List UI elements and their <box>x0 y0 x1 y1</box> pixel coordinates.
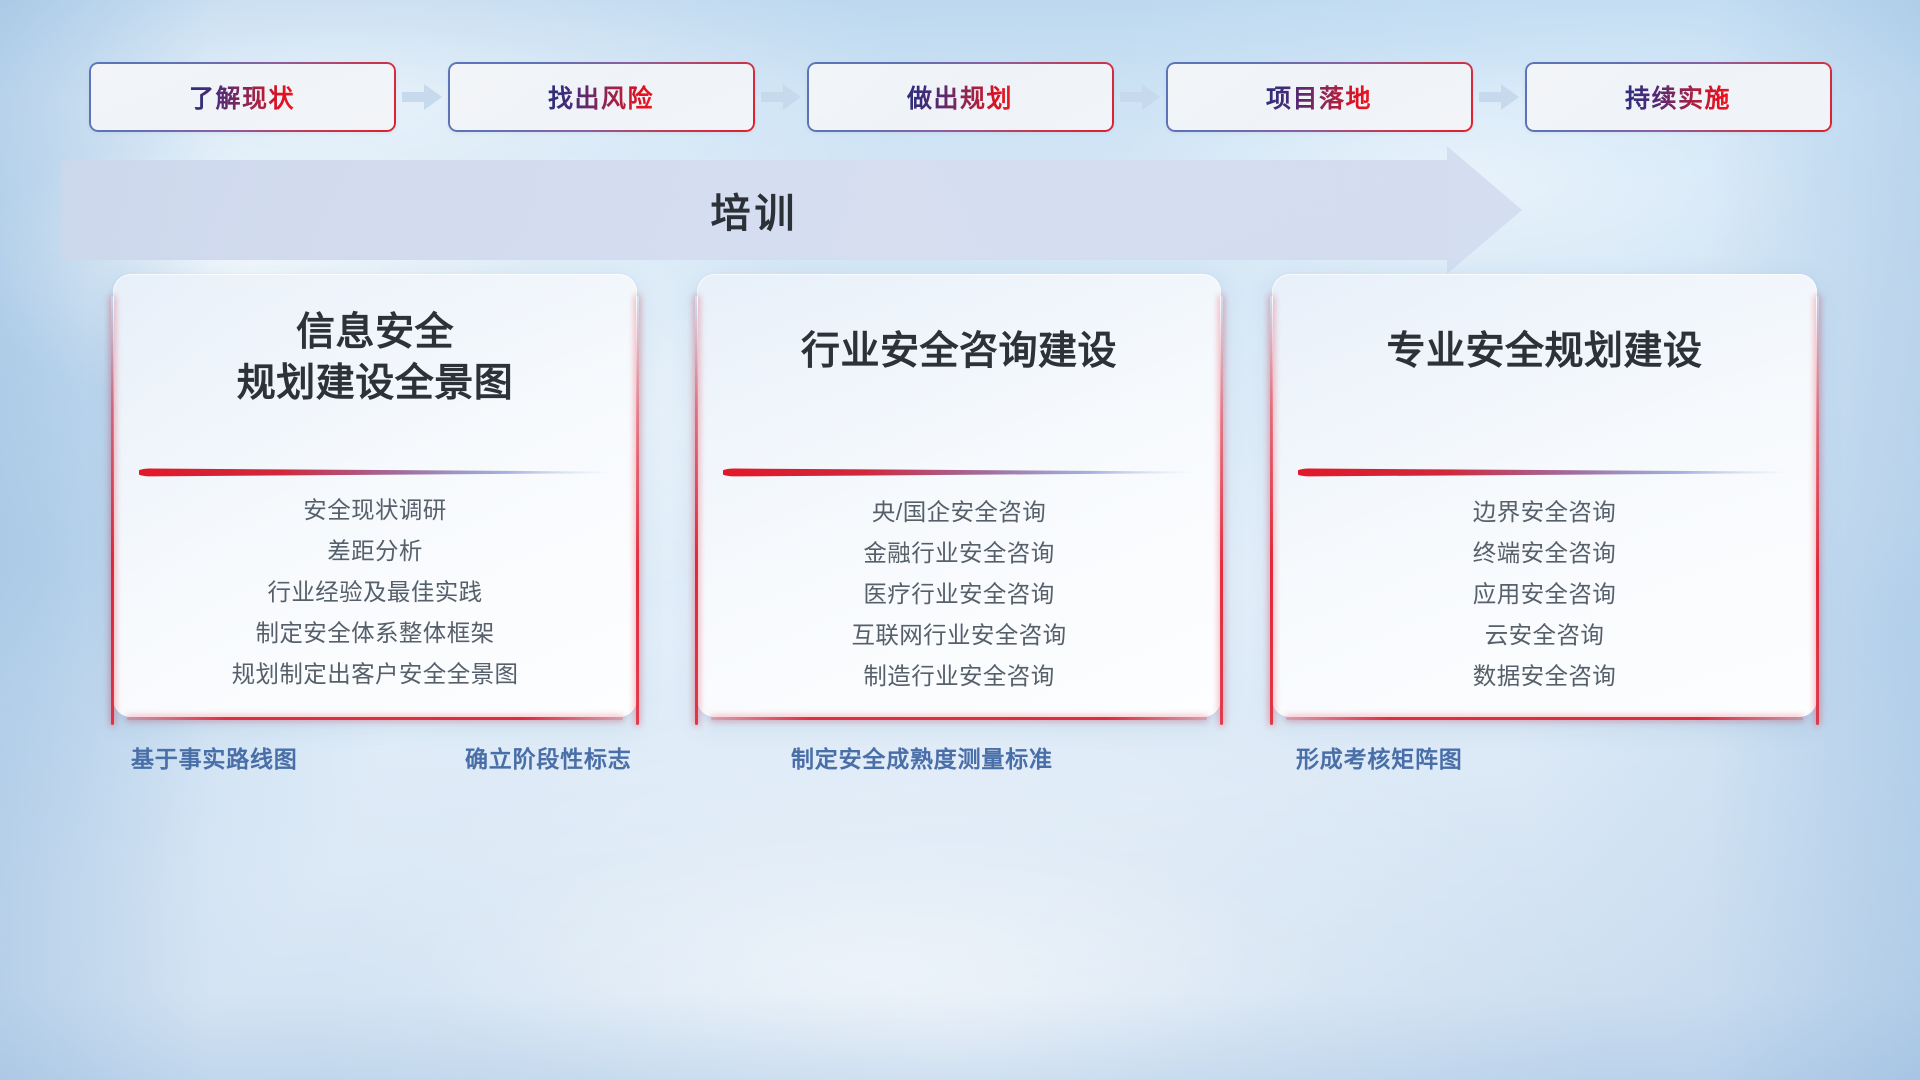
card-title: 专业安全规划建设 <box>1272 327 1817 378</box>
step-button-4[interactable]: 项目落地 <box>1166 62 1473 132</box>
list-item: 互联网行业安全咨询 <box>851 615 1066 656</box>
list-item: 云安全咨询 <box>1485 615 1605 656</box>
card-divider <box>723 467 1195 479</box>
card-item-list: 央/国企安全咨询 金融行业安全咨询 医疗行业安全咨询 互联网行业安全咨询 制造行… <box>697 492 1221 697</box>
arrow-right-icon <box>1473 62 1525 132</box>
footer-label-4: 形成考核矩阵图 <box>1296 740 1463 774</box>
list-item: 终端安全咨询 <box>1473 533 1616 574</box>
card-industry-security-consulting[interactable]: 行业安全咨询建设 央/国企安全咨询 金融行业安全咨询 医疗行业安全咨询 <box>697 274 1221 717</box>
footer-label-3: 制定安全成熟度测量标准 <box>791 740 1053 774</box>
list-item: 金融行业安全咨询 <box>863 533 1054 574</box>
arrow-right-icon <box>396 62 448 132</box>
step-button-1[interactable]: 了解现状 <box>89 62 396 132</box>
training-banner: 培训 <box>62 160 1522 260</box>
list-item: 行业经验及最佳实践 <box>267 572 482 613</box>
list-item: 边界安全咨询 <box>1473 492 1616 533</box>
card-edge-glow-bottom <box>1286 717 1803 720</box>
step-button-5[interactable]: 持续实施 <box>1525 62 1832 132</box>
footer-labels-row: 基于事实路线图 确立阶段性标志 制定安全成熟度测量标准 形成考核矩阵图 <box>0 740 1920 800</box>
card-divider <box>1298 467 1791 479</box>
list-item: 央/国企安全咨询 <box>872 492 1046 533</box>
cards-row: 信息安全 规划建设全景图 安全现状调研 差距分析 行业经验及最佳实践 <box>0 274 1920 724</box>
card-title: 行业安全咨询建设 <box>697 327 1221 378</box>
arrow-right-icon <box>1114 62 1166 132</box>
step-label: 找出风险 <box>548 79 654 115</box>
list-item: 制造行业安全咨询 <box>863 656 1054 697</box>
list-item: 规划制定出客户安全全景图 <box>232 654 519 695</box>
list-item: 差距分析 <box>327 531 423 572</box>
banner-label: 培训 <box>62 160 1447 260</box>
card-professional-security-planning[interactable]: 专业安全规划建设 边界安全咨询 终端安全咨询 应用安全咨询 云安全 <box>1272 274 1817 717</box>
step-button-2[interactable]: 找出风险 <box>448 62 755 132</box>
card-edge-glow-bottom <box>711 717 1207 720</box>
step-label: 项目落地 <box>1266 79 1372 115</box>
list-item: 安全现状调研 <box>303 490 446 531</box>
banner-arrow-head <box>1447 146 1522 274</box>
footer-label-1: 基于事实路线图 <box>131 740 298 774</box>
process-steps-row: 了解现状 找出风险 做出规划 项目落地 持续实施 <box>0 62 1920 132</box>
step-label: 做出规划 <box>907 79 1013 115</box>
card-item-list: 边界安全咨询 终端安全咨询 应用安全咨询 云安全咨询 数据安全咨询 <box>1272 492 1817 697</box>
list-item: 应用安全咨询 <box>1473 574 1616 615</box>
card-item-list: 安全现状调研 差距分析 行业经验及最佳实践 制定安全体系整体框架 规划制定出客户… <box>113 490 637 695</box>
card-divider <box>139 467 611 479</box>
step-button-3[interactable]: 做出规划 <box>807 62 1114 132</box>
arrow-right-icon <box>755 62 807 132</box>
card-title: 信息安全 规划建设全景图 <box>113 308 637 409</box>
list-item: 数据安全咨询 <box>1473 656 1616 697</box>
list-item: 医疗行业安全咨询 <box>863 574 1054 615</box>
footer-label-2: 确立阶段性标志 <box>465 740 632 774</box>
card-edge-glow-bottom <box>127 717 623 720</box>
list-item: 制定安全体系整体框架 <box>256 613 495 654</box>
step-label: 持续实施 <box>1625 79 1731 115</box>
step-label: 了解现状 <box>189 79 295 115</box>
card-information-security-blueprint[interactable]: 信息安全 规划建设全景图 安全现状调研 差距分析 行业经验及最佳实践 <box>113 274 637 717</box>
